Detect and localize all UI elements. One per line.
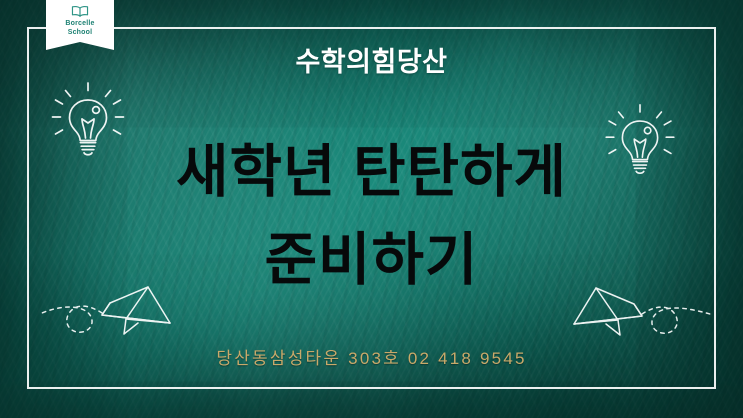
open-book-icon [71, 5, 89, 18]
address-phone-line: 당산동삼성타운 303호 02 418 9545 [0, 344, 743, 369]
logo-line-2: School [68, 29, 93, 38]
logo-line-1: Borcelle [65, 20, 94, 29]
poster-headline: 새학년 탄탄하게 준비하기 [0, 128, 743, 304]
poster-subtitle: 수학의힘당산 [0, 40, 743, 79]
headline-line-2: 준비하기 [0, 216, 743, 304]
poster-canvas: Borcelle School 수학의힘당산 새학년 탄탄하게 준비하기 당산동… [0, 0, 743, 418]
headline-line-1: 새학년 탄탄하게 [0, 128, 743, 216]
